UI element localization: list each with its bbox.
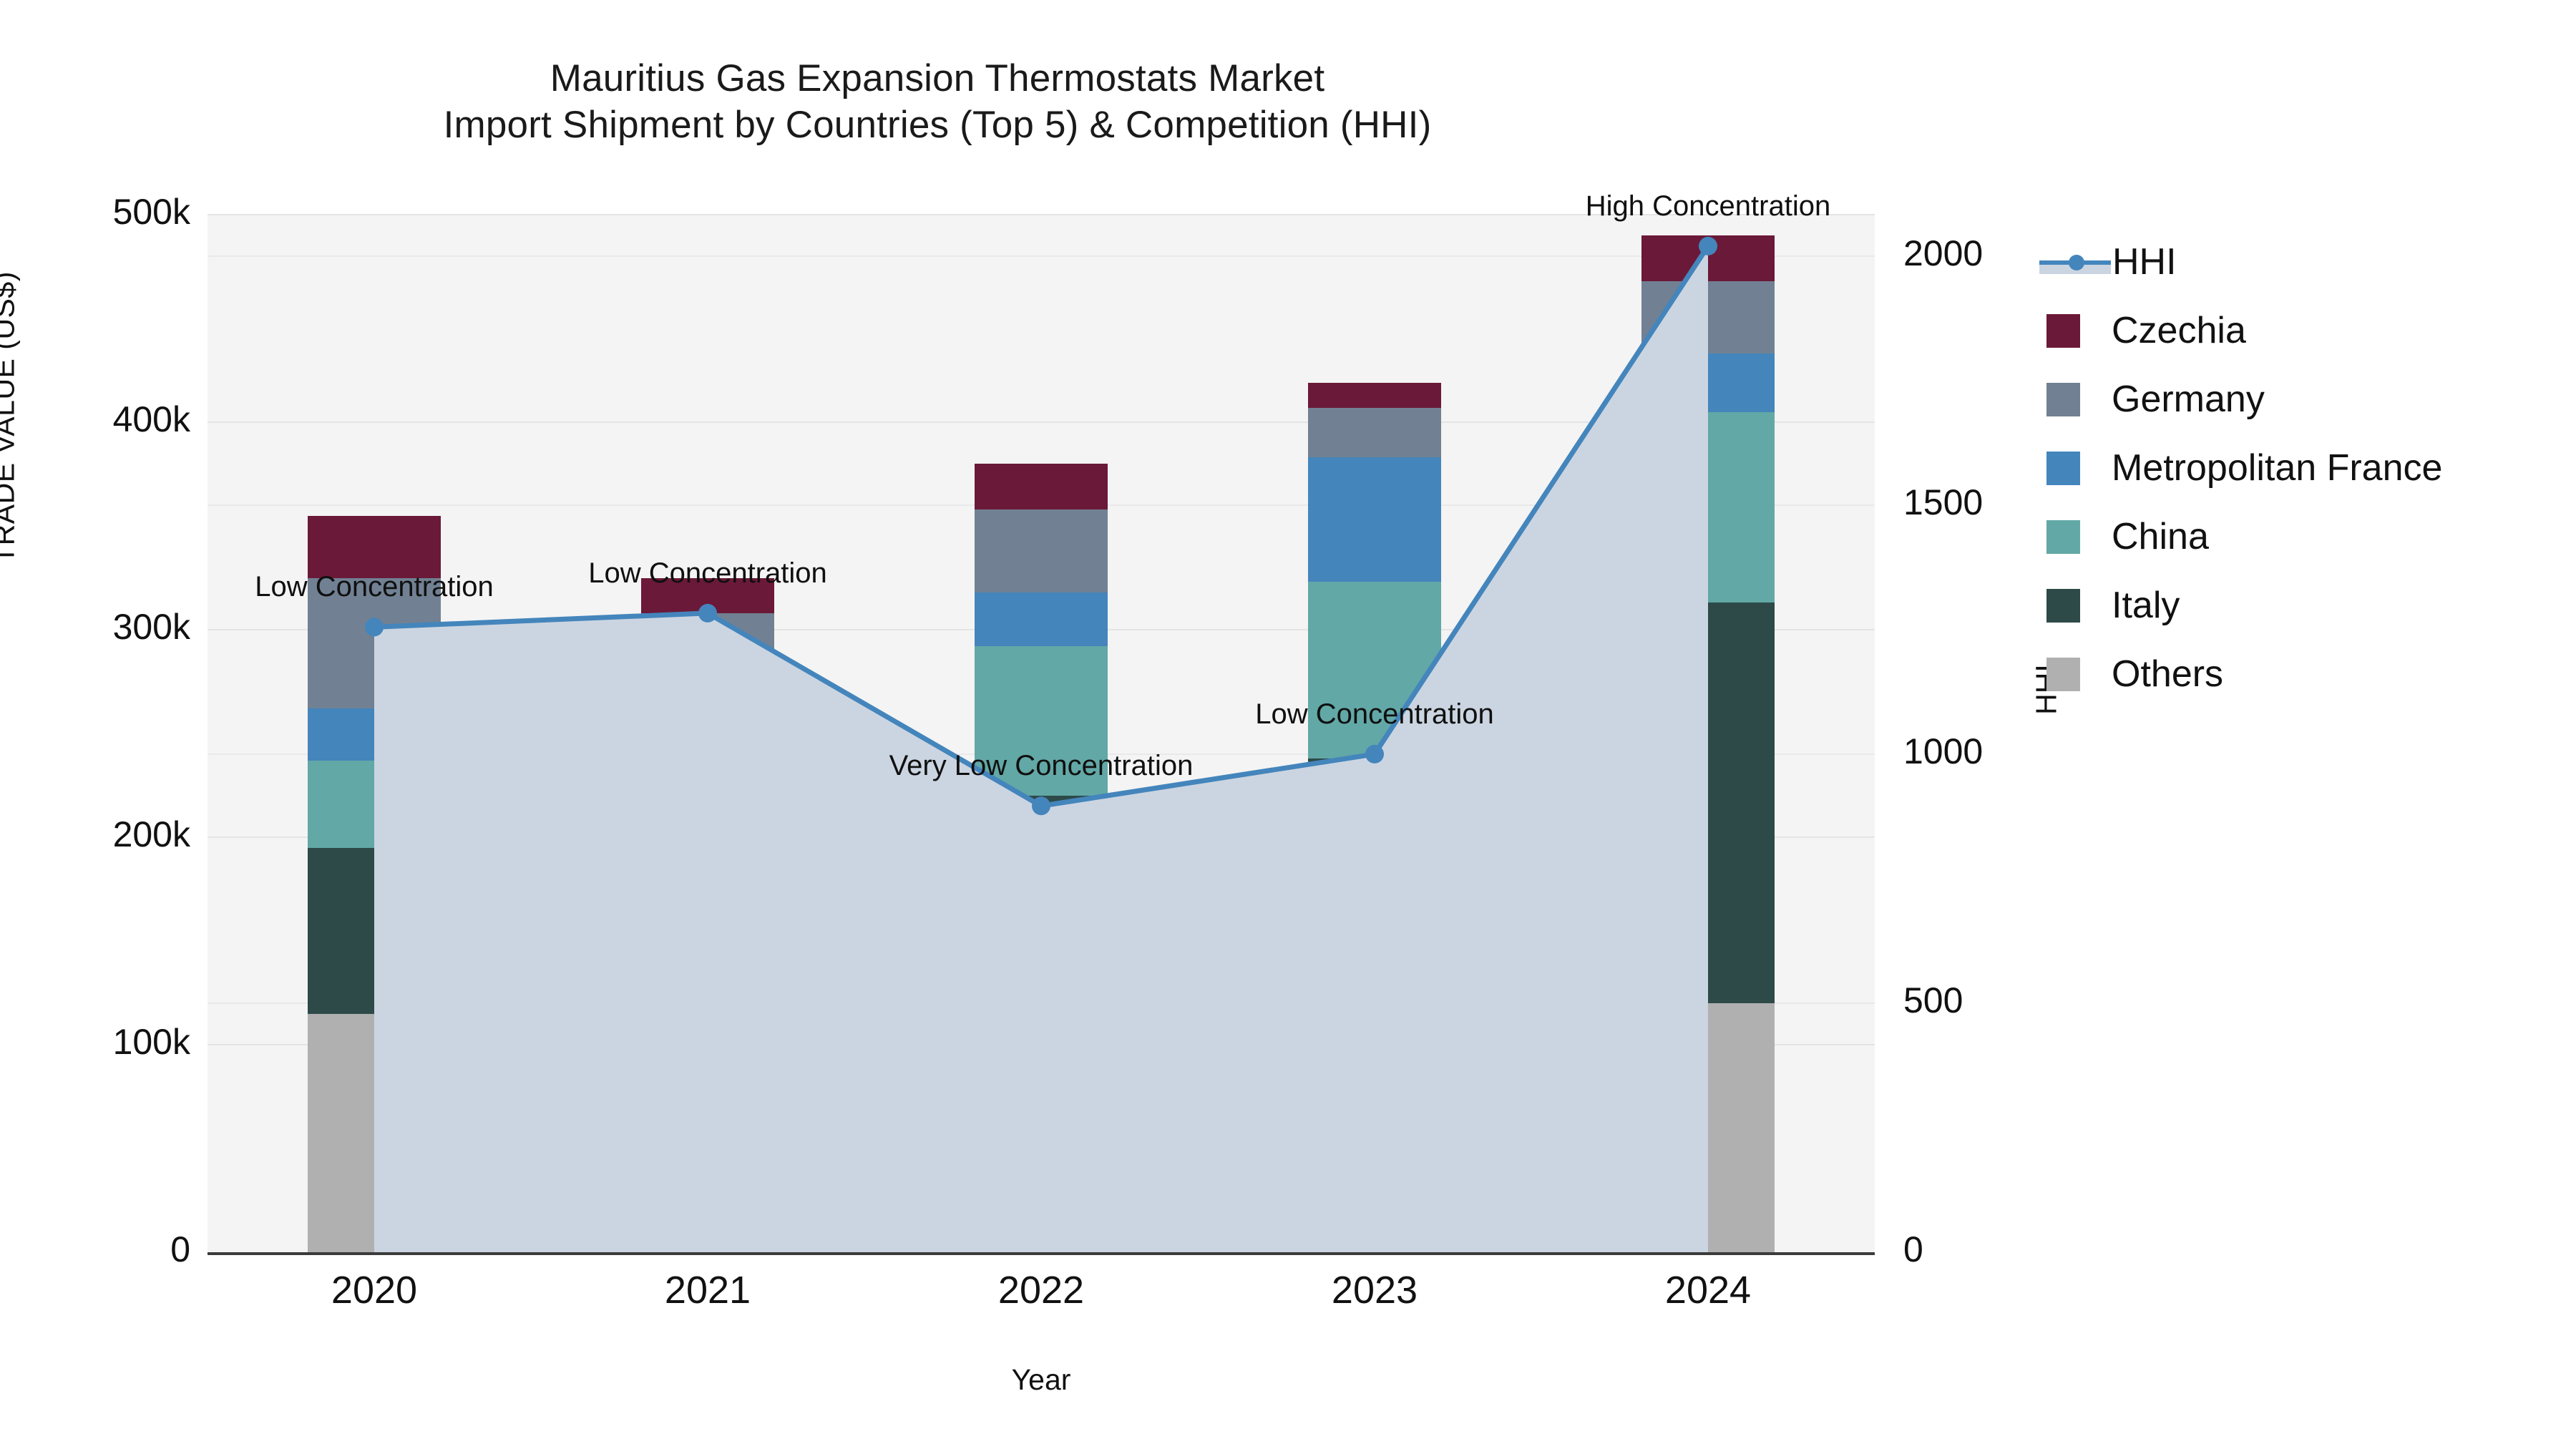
bar-segment[interactable] [641, 1028, 774, 1252]
bar-segment[interactable] [641, 972, 774, 1028]
legend-item[interactable]: Italy [2039, 571, 2569, 640]
y-axis-left-tick: 200k [0, 814, 190, 855]
legend-item-label: Others [2112, 655, 2223, 693]
bar-stack[interactable] [1641, 215, 1775, 1252]
x-axis-label: Year [208, 1363, 1875, 1397]
legend-item-label: Czechia [2112, 312, 2246, 349]
legend-item[interactable]: Others [2039, 640, 2569, 708]
bar-segment[interactable] [1308, 582, 1441, 758]
y-axis-left-tick: 500k [0, 191, 190, 233]
legend-item[interactable]: HHI [2039, 228, 2569, 296]
bar-segment[interactable] [975, 796, 1108, 904]
bar-segment[interactable] [1308, 408, 1441, 458]
x-axis-tick: 2021 [600, 1268, 815, 1312]
legend-item[interactable]: Germany [2039, 365, 2569, 434]
bar-segment[interactable] [308, 1014, 441, 1253]
bar-segment[interactable] [1641, 235, 1775, 281]
chart-legend: HHICzechiaGermanyMetropolitan FranceChin… [2039, 228, 2569, 708]
hhi-annotation: Low Concentration [421, 557, 994, 590]
bar-stack[interactable] [641, 215, 774, 1252]
bar-segment[interactable] [308, 761, 441, 848]
bar-segment[interactable] [641, 613, 774, 648]
bar-segment[interactable] [1308, 758, 1441, 835]
legend-item-label: China [2112, 518, 2209, 555]
legend-item[interactable]: China [2039, 502, 2569, 571]
x-axis-tick: 2024 [1601, 1268, 1815, 1312]
bar-segment[interactable] [1641, 281, 1775, 354]
bar-stack[interactable] [975, 215, 1108, 1252]
y-axis-left-tick: 100k [0, 1021, 190, 1063]
x-axis-tick: 2022 [934, 1268, 1148, 1312]
chart-title-line-1: Mauritius Gas Expansion Thermostats Mark… [0, 56, 1875, 102]
x-axis-tick: 2023 [1267, 1268, 1482, 1312]
y-axis-right-tick: 0 [1903, 1229, 1923, 1270]
y-axis-right-tick: 1000 [1903, 731, 1983, 772]
y-axis-left-tick: 300k [0, 606, 190, 648]
hhi-annotation: Very Low Concentration [755, 750, 1327, 782]
legend-color-swatch [2046, 452, 2080, 485]
legend-item-label: Italy [2112, 587, 2180, 624]
legend-line-icon [2039, 245, 2111, 279]
bar-segment[interactable] [1641, 353, 1775, 411]
legend-item[interactable]: Metropolitan France [2039, 434, 2569, 502]
bar-segment[interactable] [975, 464, 1108, 509]
legend-line-dot [2069, 255, 2084, 270]
legend-item-label: Metropolitan France [2112, 449, 2442, 487]
y-axis-right-tick: 1500 [1903, 482, 1983, 523]
legend-color-swatch [2046, 658, 2080, 691]
bar-segment[interactable] [975, 592, 1108, 646]
bar-segment[interactable] [308, 708, 441, 761]
chart-title-line-2: Import Shipment by Countries (Top 5) & C… [0, 102, 1875, 149]
y-axis-left-tick: 0 [0, 1229, 190, 1270]
bar-stack[interactable] [308, 215, 441, 1252]
bar-segment[interactable] [1308, 383, 1441, 408]
hhi-annotation: High Concentration [1422, 190, 1994, 223]
hhi-annotation: Low Concentration [1088, 698, 1661, 731]
legend-item-label: Germany [2112, 381, 2265, 418]
bar-segment[interactable] [1308, 835, 1441, 1252]
y-axis-right-tick: 2000 [1903, 233, 1983, 274]
bar-segment[interactable] [1641, 412, 1775, 603]
legend-item[interactable]: Czechia [2039, 296, 2569, 365]
bar-segment[interactable] [641, 810, 774, 972]
bar-segment[interactable] [975, 509, 1108, 592]
y-axis-right-tick: 500 [1903, 980, 1963, 1021]
legend-color-swatch [2046, 520, 2080, 554]
legend-item-label: HHI [2112, 243, 2177, 280]
bar-segment[interactable] [308, 848, 441, 1014]
bar-segment[interactable] [975, 904, 1108, 1252]
bar-segment[interactable] [1641, 1003, 1775, 1252]
y-axis-left-tick: 400k [0, 399, 190, 440]
bar-segment[interactable] [1308, 457, 1441, 582]
chart-title: Mauritius Gas Expansion Thermostats Mark… [0, 56, 1875, 148]
x-axis-tick: 2020 [267, 1268, 482, 1312]
plot-area: Low ConcentrationLow ConcentrationVery L… [208, 215, 1875, 1255]
bar-stack[interactable] [1308, 215, 1441, 1252]
y-axis-left-label: TRADE VALUE (US$) [0, 232, 21, 604]
bar-segment[interactable] [1641, 602, 1775, 1003]
legend-color-swatch [2046, 383, 2080, 416]
legend-color-swatch [2046, 589, 2080, 623]
bar-segment[interactable] [641, 648, 774, 810]
legend-color-swatch [2046, 314, 2080, 348]
